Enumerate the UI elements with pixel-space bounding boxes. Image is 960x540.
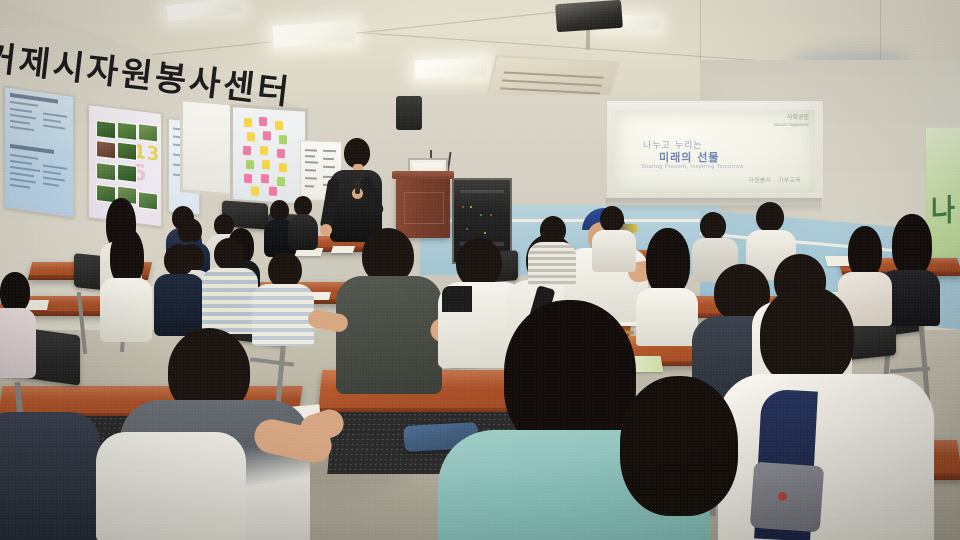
microphone-icon <box>355 180 360 194</box>
slide-logo-line1: 사회공헌 <box>787 115 809 121</box>
sticky-note-board <box>230 104 308 207</box>
slide-logo: 사회공헌 nanum happiness <box>773 115 809 128</box>
classroom-photo: 나 거제시자원봉사센터 13 6 <box>0 0 960 540</box>
projector-icon <box>555 0 623 32</box>
slide-content: 사회공헌 nanum happiness 나누고 누리는 미래의 선물 Shar… <box>615 110 815 192</box>
uniform-logo <box>778 492 787 501</box>
ceiling-panel-light <box>414 57 489 81</box>
uniform-gray-patch <box>750 462 824 533</box>
projector-mount <box>586 28 590 50</box>
slide-title-line2: 미래의 선물 <box>659 149 719 165</box>
slide-footer: 자원봉사 · 기부교육 <box>749 176 801 184</box>
slide-logo-line2: nanum happiness <box>773 122 809 127</box>
wall-speaker-icon <box>396 96 422 130</box>
slide-subtitle: Sharing Present, Inspiring Tomorrow <box>641 164 744 170</box>
projection-screen: 사회공헌 nanum happiness 나누고 누리는 미래의 선물 Shar… <box>606 100 824 206</box>
screen-shadow <box>606 198 822 212</box>
wooden-podium <box>396 176 450 238</box>
blue-info-poster <box>4 86 74 218</box>
banner-glyph: 나 <box>931 187 955 230</box>
